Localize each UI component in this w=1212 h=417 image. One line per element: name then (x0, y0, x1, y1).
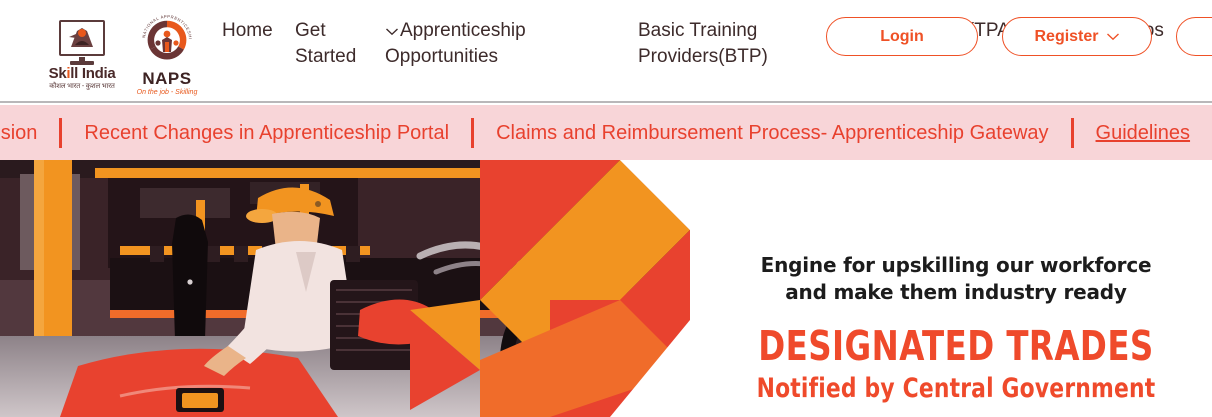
hero-copy: Engine for upskilling our workforce and … (700, 160, 1212, 417)
nav-item-get-started[interactable]: Get Started (295, 18, 391, 70)
skill-india-logo[interactable]: Skill India कौशल भारत - कुशल भारत (30, 20, 134, 92)
page-root: Skill India कौशल भारत - कुशल भारत NATION… (0, 0, 1212, 417)
hero-headline: Engine for upskilling our workforce and … (700, 252, 1212, 306)
skill-india-tagline: कौशल भारत - कुशल भारत (30, 82, 134, 91)
naps-wordmark: NAPS (124, 69, 210, 88)
hero-title: DESIGNATED TRADES (731, 324, 1182, 368)
skill-india-emblem-icon (59, 20, 105, 56)
register-button-label: Register (1034, 28, 1098, 46)
nav-item-basic-training-providers[interactable]: Basic Training Providers(BTP) (638, 18, 818, 70)
ticker-item[interactable]: Recent Changes in Apprenticeship Portal (62, 120, 471, 146)
nav-label-apprenticeship-opportunities: Apprenticeship Opportunities (385, 20, 526, 67)
ticker-track: Marketing Division Recent Changes in App… (0, 105, 1212, 160)
chevron-down-icon (385, 18, 399, 44)
naps-emblem-icon: NATIONAL APPRENTICESHIP PROMOTION SCHEME (139, 12, 195, 68)
naps-logo[interactable]: NATIONAL APPRENTICESHIP PROMOTION SCHEME… (124, 12, 210, 96)
hero-subtitle: Notified by Central Government (726, 374, 1187, 404)
artisan-icon (67, 25, 97, 51)
nav-label-btp: Basic Training Providers(BTP) (638, 20, 768, 67)
nav-item-apprenticeship-opportunities[interactable]: Apprenticeship Opportunities (385, 18, 615, 70)
chevron-down-icon (1106, 28, 1120, 46)
ticker-item[interactable]: Guidelines (1074, 120, 1212, 146)
skill-india-wordmark: Skill India (30, 65, 134, 82)
announcement-ticker[interactable]: Marketing Division Recent Changes in App… (0, 105, 1212, 160)
hero-banner: Engine for upskilling our workforce and … (0, 160, 1212, 417)
naps-ring-icon: NATIONAL APPRENTICESHIP PROMOTION SCHEME (139, 12, 195, 68)
site-header: Skill India कौशल भारत - कुशल भारत NATION… (0, 0, 1212, 103)
register-button[interactable]: Register (1002, 17, 1152, 56)
nav-item-home[interactable]: Home (222, 18, 273, 44)
ticker-item[interactable]: Marketing Division (0, 120, 59, 146)
overflow-pill-button[interactable] (1176, 17, 1212, 56)
naps-tagline: On the job - Skilling (124, 88, 210, 97)
nav-label-home: Home (222, 20, 273, 41)
login-button[interactable]: Login (826, 17, 978, 56)
nav-label-get-started: Get Started (295, 20, 356, 67)
ticker-item[interactable]: Claims and Reimbursement Process- Appren… (474, 120, 1070, 146)
login-button-label: Login (880, 28, 924, 46)
